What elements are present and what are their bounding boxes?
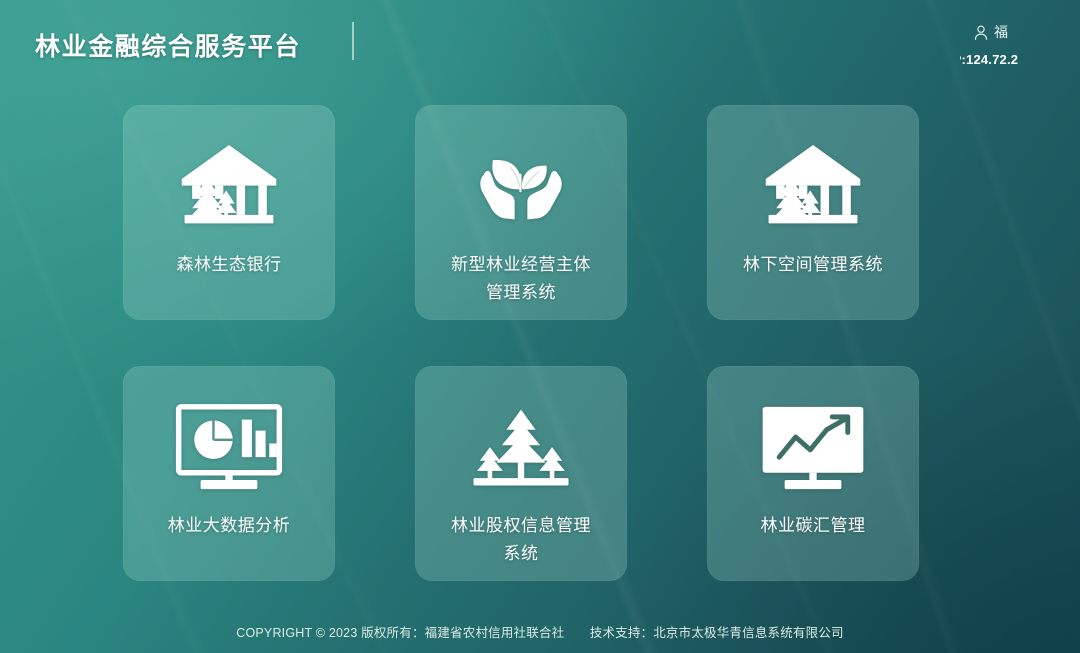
footer-support: 技术支持：北京市太极华青信息系统有限公司 — [590, 626, 844, 640]
hands-leaf-icon — [415, 131, 627, 243]
module-card-label: 林业大数据分析 — [131, 512, 327, 540]
user-icon — [974, 25, 988, 40]
title-divider — [352, 22, 354, 60]
module-card-label: 林业股权信息管理系统 — [423, 512, 619, 568]
username-text: 福 — [994, 22, 1008, 42]
module-card-forest-eco-bank[interactable]: 森林生态银行 — [123, 105, 335, 320]
footer-copyright: COPYRIGHT © 2023 版权所有：福建省农村信用社联合社 — [236, 626, 564, 640]
bank-forest-icon — [707, 131, 919, 243]
pine-trees-icon — [415, 392, 627, 504]
module-card-label: 森林生态银行 — [131, 251, 327, 279]
module-card-label: 新型林业经营主体管理系统 — [423, 251, 619, 307]
module-card-carbon-sink[interactable]: 林业碳汇管理 — [707, 366, 919, 581]
module-card-equity-info[interactable]: 林业股权信息管理系统 — [415, 366, 627, 581]
page-title: 林业金融综合服务平台 — [35, 27, 301, 63]
module-grid: 森林生态银行 — [123, 105, 931, 581]
page-header: 林业金融综合服务平台 福 上次登录IP:124.72.2 — [0, 0, 1080, 92]
monitor-chart-icon — [123, 392, 335, 504]
bank-forest-icon — [123, 131, 335, 243]
monitor-trend-icon — [707, 392, 919, 504]
footer: COPYRIGHT © 2023 版权所有：福建省农村信用社联合社 技术支持：北… — [0, 622, 1080, 641]
module-card-understory-space[interactable]: 林下空间管理系统 — [707, 105, 919, 320]
app-root: 林业金融综合服务平台 福 上次登录IP:124.72.2 — [0, 0, 1080, 653]
module-card-big-data-analysis[interactable]: 林业大数据分析 — [123, 366, 335, 581]
user-info-block: 福 上次登录IP:124.72.2 — [960, 22, 1080, 72]
module-card-label: 林下空间管理系统 — [715, 251, 911, 279]
module-card-label: 林业碳汇管理 — [715, 512, 911, 540]
user-account[interactable]: 福 — [974, 22, 1008, 42]
last-login-ip: 上次登录IP:124.72.2 — [960, 49, 1018, 68]
module-card-new-forestry-entity[interactable]: 新型林业经营主体管理系统 — [415, 105, 627, 320]
